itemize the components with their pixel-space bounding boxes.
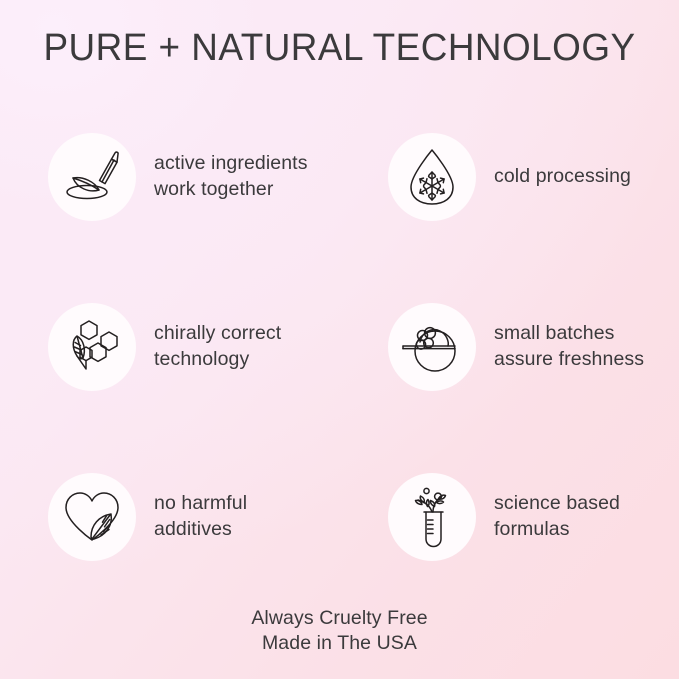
feature-label: active ingredients work together [154,151,308,203]
feature-label: science based formulas [494,491,620,543]
mixing-bowl-icon [388,303,476,391]
feature-item-cold-processing: cold processing [340,92,679,262]
heart-leaf-icon [48,473,136,561]
feature-label: chirally correct technology [154,321,281,373]
feature-item-small-batches: small batches assure freshness [340,262,679,432]
test-tube-plant-icon [388,473,476,561]
feature-item-active-ingredients: active ingredients work together [0,92,340,262]
feature-item-no-harmful-additives: no harmful additives [0,432,340,602]
feature-item-chirally-correct: chirally correct technology [0,262,340,432]
feature-label: small batches assure freshness [494,321,644,373]
feature-item-science-based: science based formulas [340,432,679,602]
page-title: PURE + NATURAL TECHNOLOGY [10,27,669,70]
dropper-leaf-icon [48,133,136,221]
poster: PURE + NATURAL TECHNOLOGY active i [0,0,679,679]
snowflake-droplet-icon [388,133,476,221]
feature-label: no harmful additives [154,491,247,543]
feature-label: cold processing [494,164,631,190]
heading-container: PURE + NATURAL TECHNOLOGY [0,0,679,70]
molecule-leaf-icon [48,303,136,391]
feature-grid: active ingredients work together [0,92,679,602]
footer-text: Always Cruelty Free Made in The USA [0,606,679,657]
